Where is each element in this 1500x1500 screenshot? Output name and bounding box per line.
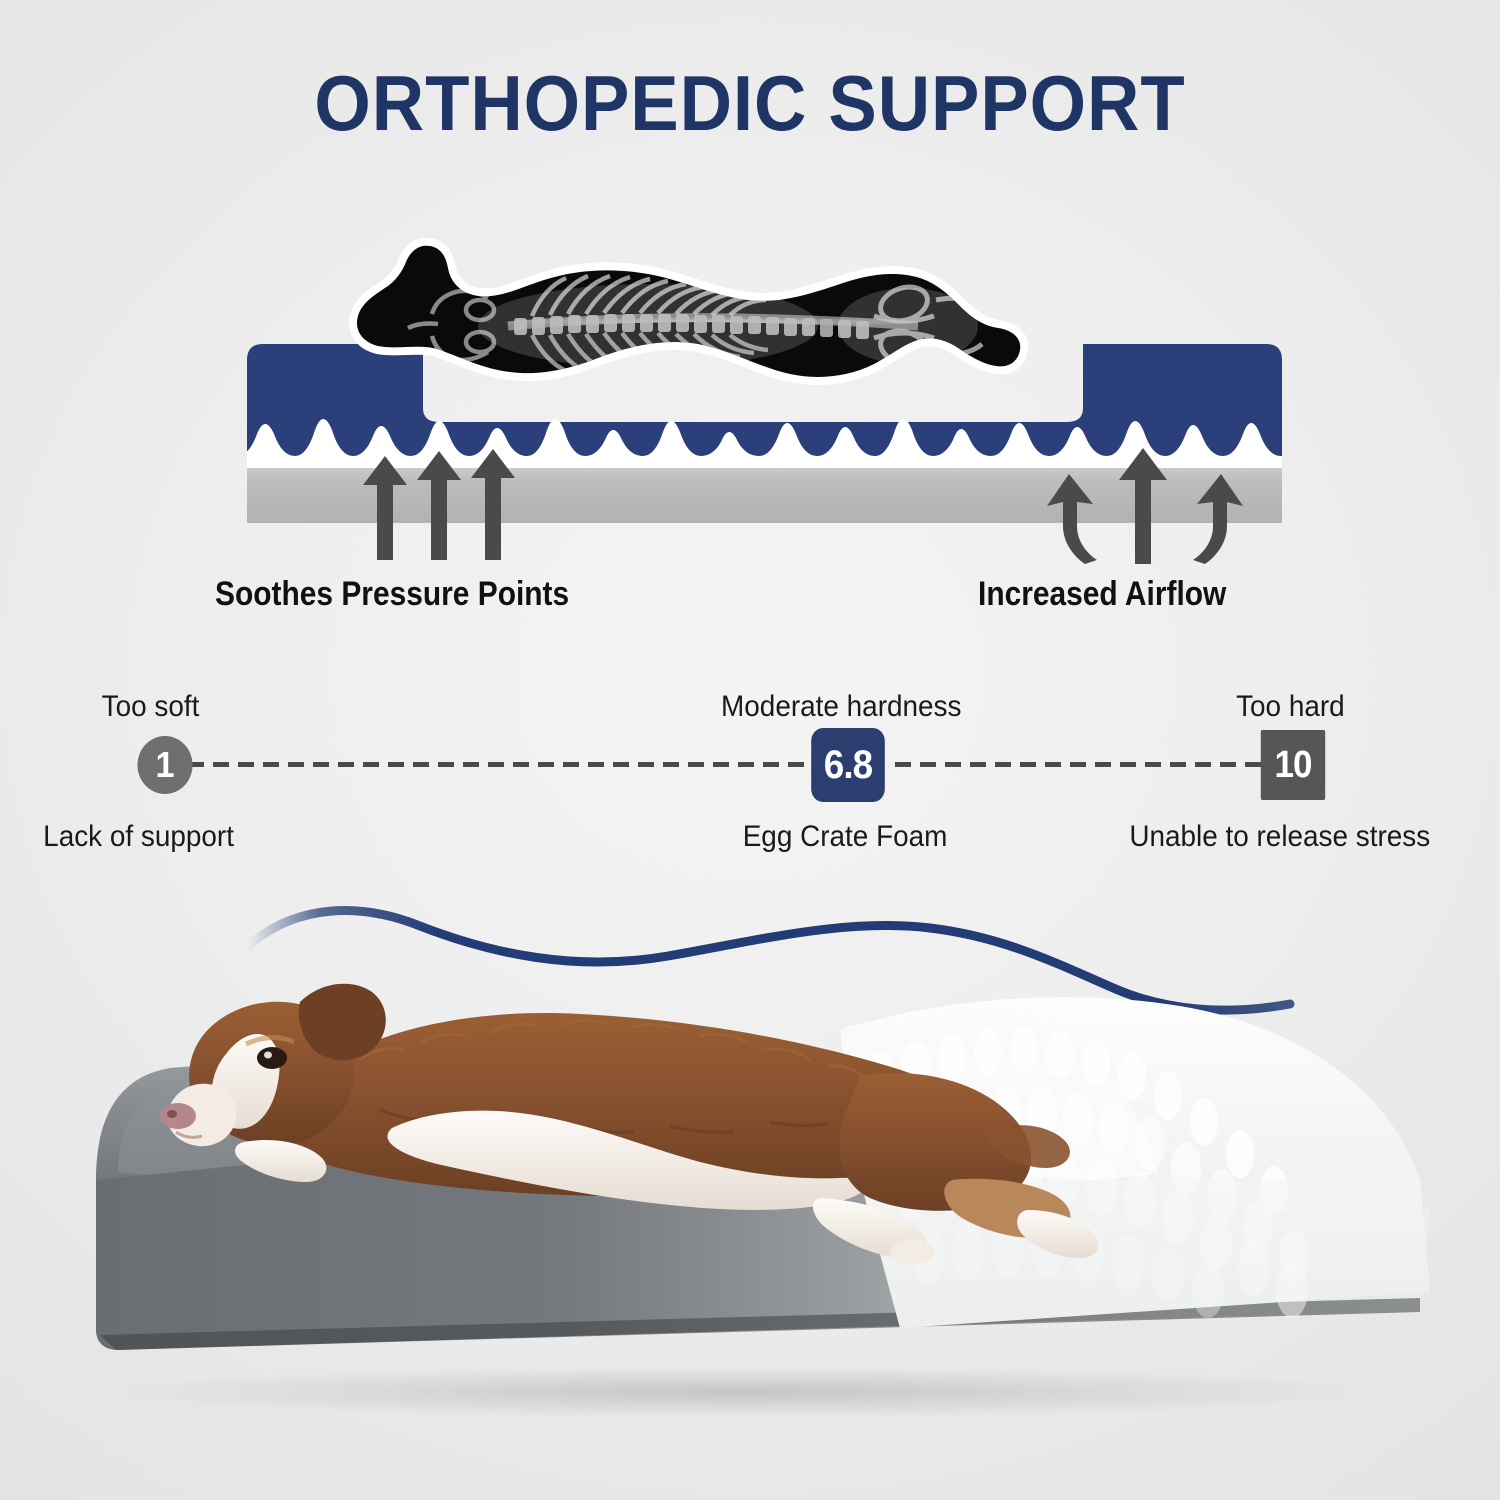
scale-track	[168, 762, 1300, 767]
dog-paw-front	[890, 1239, 934, 1265]
product-shadow	[100, 1366, 1380, 1418]
dog-xray-svg	[318, 238, 1058, 418]
scale-caption-lack-of-support: Lack of support	[43, 820, 234, 854]
scale-track-segment-right	[895, 762, 1282, 767]
dog-nostril	[167, 1110, 177, 1118]
label-increased-airflow: Increased Airflow	[978, 575, 1226, 614]
product-photo-svg	[0, 880, 1500, 1440]
silhouette-body	[318, 238, 1058, 418]
label-soothes-pressure-points: Soothes Pressure Points	[215, 575, 569, 614]
dog-xray-silhouette	[318, 238, 1058, 418]
scale-label-too-soft: Too soft	[102, 690, 200, 724]
dog-nose	[160, 1103, 196, 1129]
scale-label-too-hard: Too hard	[1236, 690, 1345, 724]
scale-marker-min: 1	[137, 736, 192, 794]
dog-eye-highlight	[264, 1052, 272, 1059]
scale-caption-unable-to-release: Unable to release stress	[1129, 820, 1430, 854]
hardness-scale: Too soft Moderate hardness Too hard 1 6.…	[0, 690, 1500, 870]
scale-caption-egg-crate-foam: Egg Crate Foam	[743, 820, 948, 854]
page-title: ORTHOPEDIC SUPPORT	[53, 58, 1448, 149]
scale-marker-max: 10	[1261, 730, 1325, 800]
scale-marker-selected: 6.8	[811, 728, 885, 802]
scale-track-segment-left	[188, 762, 823, 767]
product-photo	[0, 880, 1500, 1440]
spine-posture-curve	[248, 911, 1290, 1011]
dog-eye	[257, 1047, 287, 1069]
scale-label-moderate-hardness: Moderate hardness	[721, 690, 961, 724]
